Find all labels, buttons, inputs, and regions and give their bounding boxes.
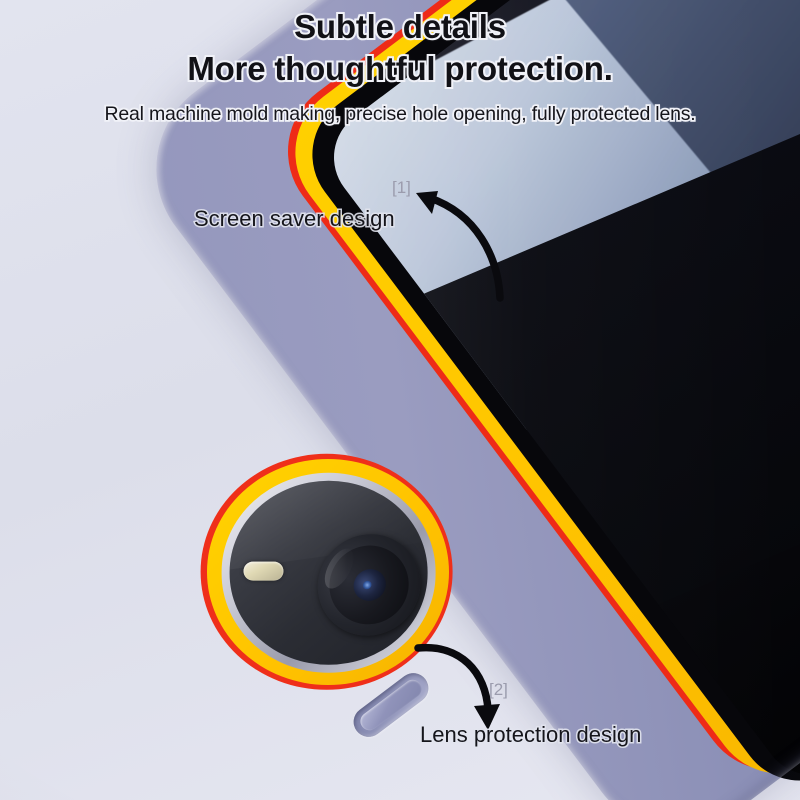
headline-line-1: Subtle details bbox=[0, 8, 800, 47]
headline-block: Subtle details More thoughtful protectio… bbox=[0, 8, 800, 126]
lens-aperture bbox=[347, 563, 392, 608]
annotation-2-label: Lens protection design bbox=[420, 722, 641, 748]
subtitle: Real machine mold making, precise hole o… bbox=[0, 103, 800, 126]
curved-arrow-up-left-icon bbox=[404, 178, 514, 303]
annotation-1-label: Screen saver design bbox=[194, 206, 395, 232]
annotation-2-index: [2] bbox=[489, 680, 508, 700]
product-detail-image: Subtle details More thoughtful protectio… bbox=[0, 0, 800, 800]
lens-reflection-icon bbox=[361, 579, 373, 591]
headline-line-2: More thoughtful protection. bbox=[0, 49, 800, 89]
annotation-1-index: [1] bbox=[392, 178, 411, 198]
led-flash-icon bbox=[243, 562, 283, 581]
